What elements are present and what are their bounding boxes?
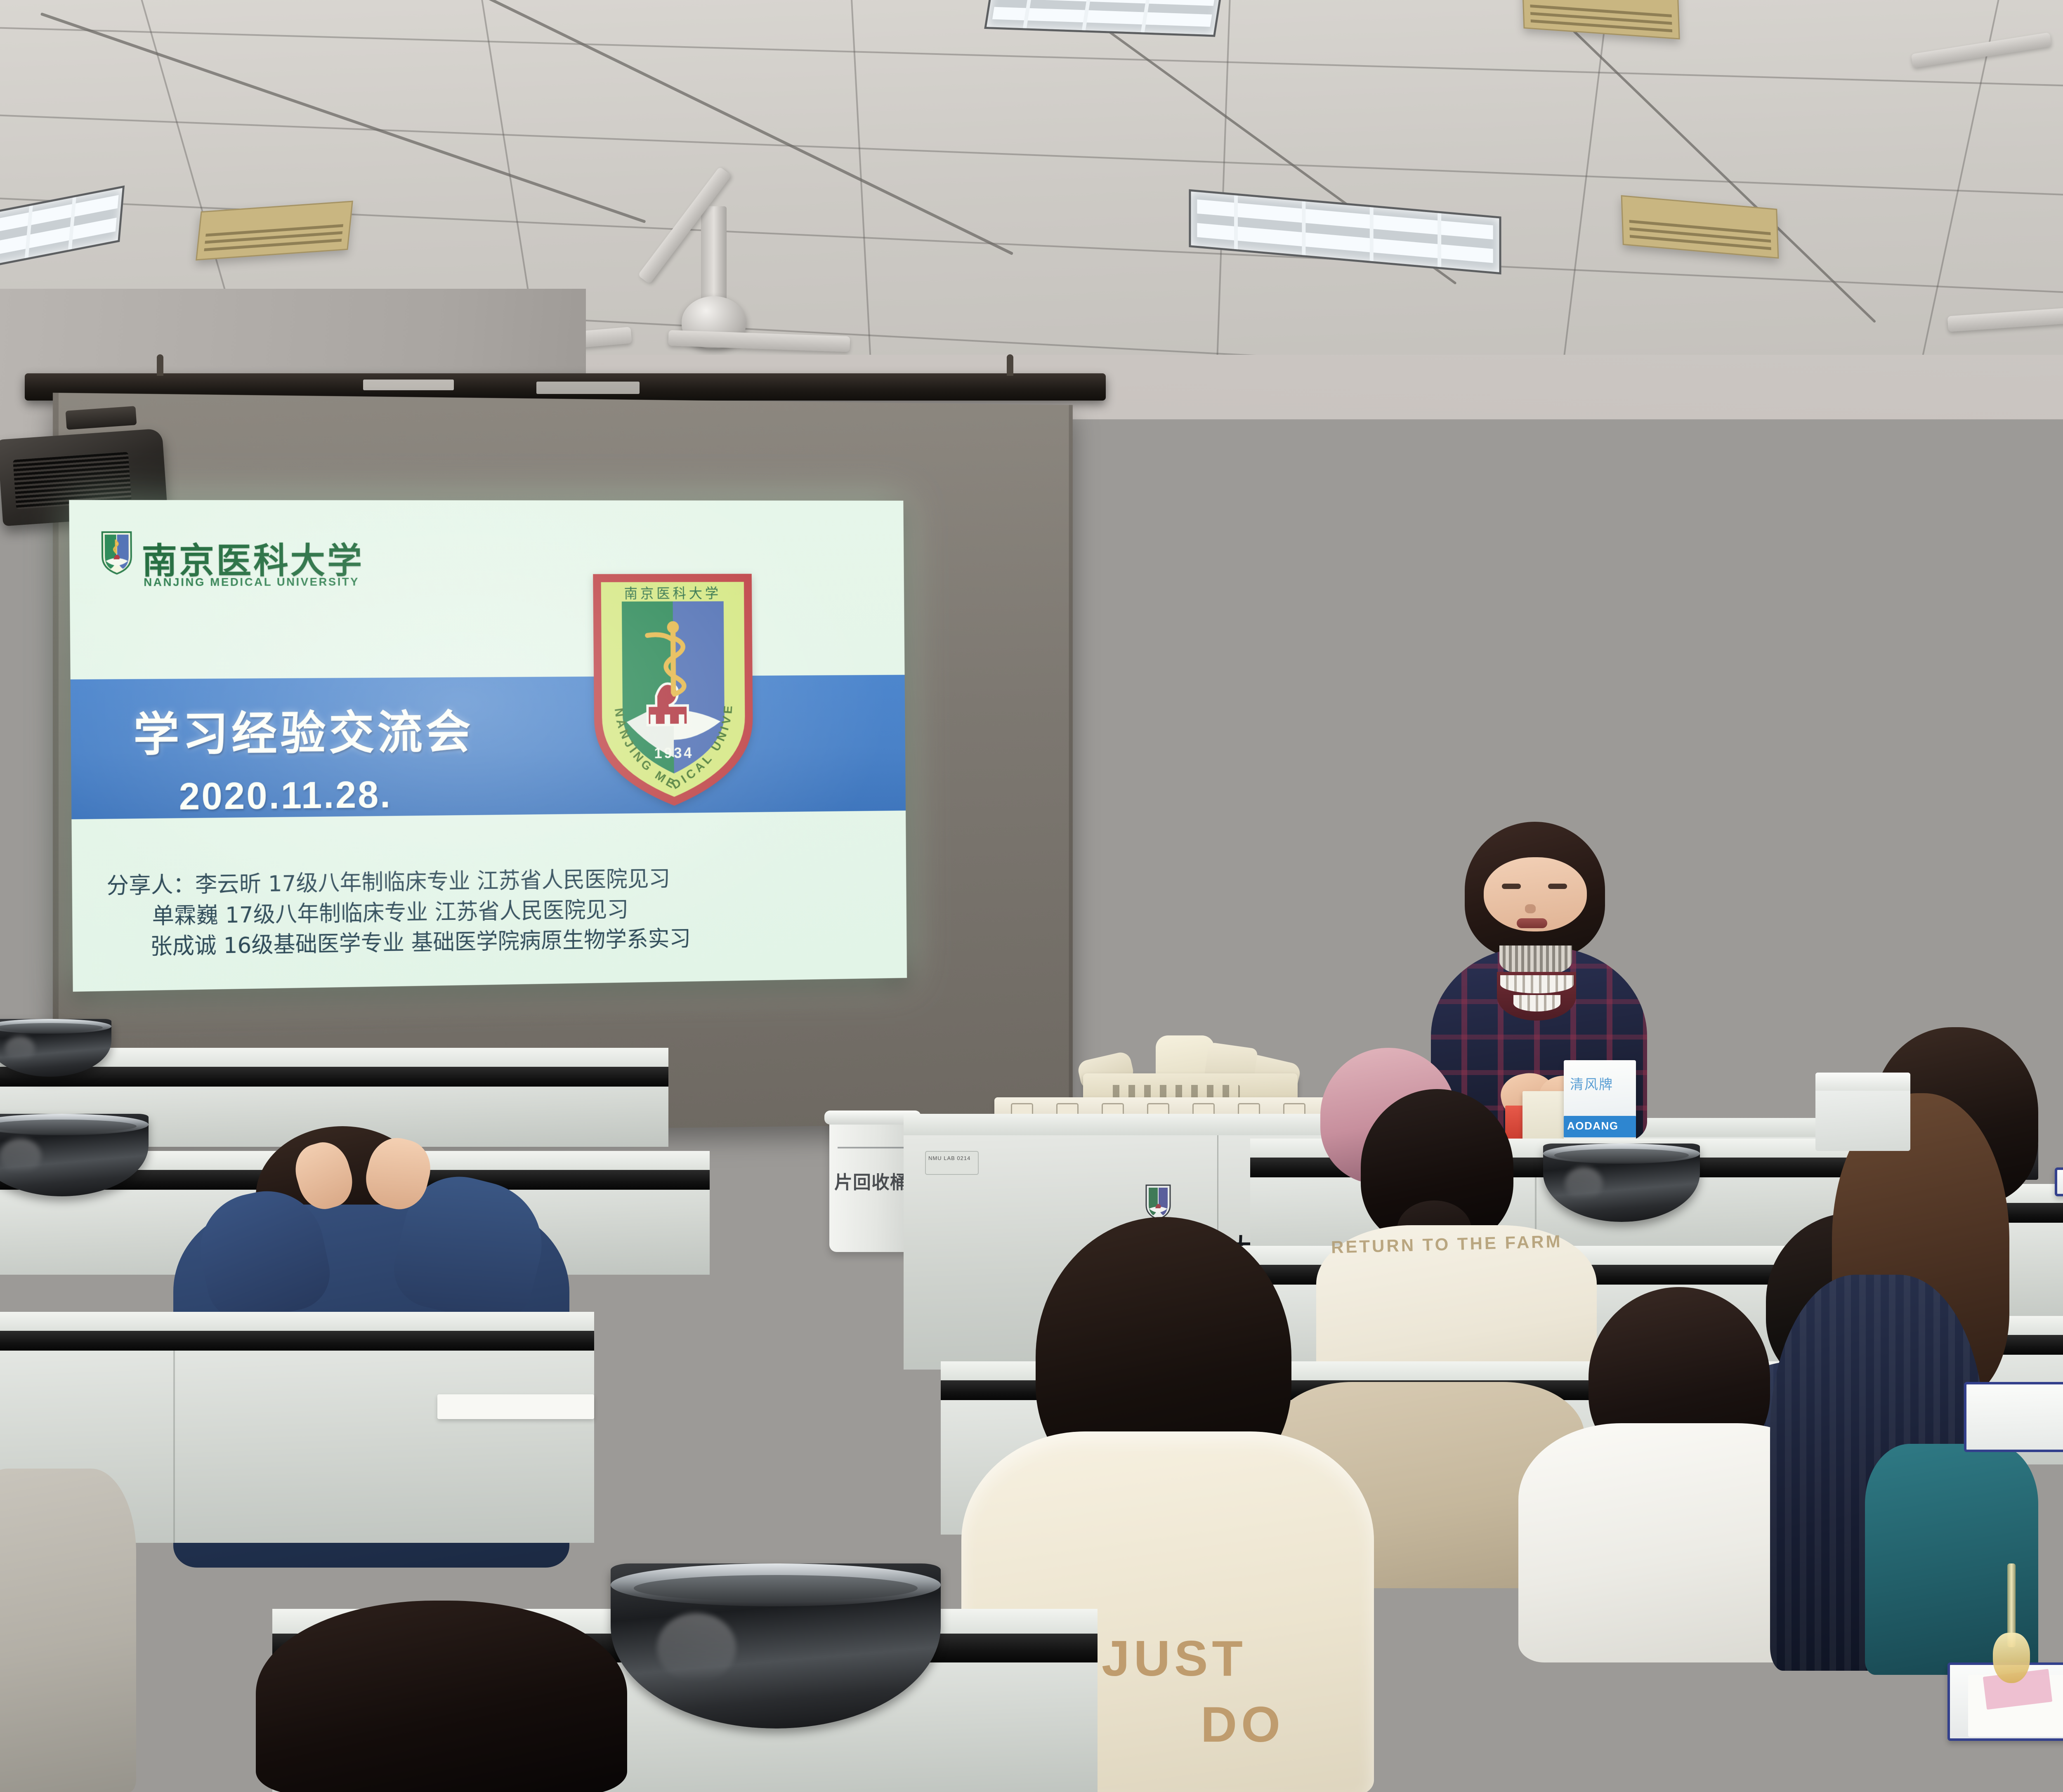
svg-text:1934: 1934 (654, 745, 694, 762)
slide-date: 2020.11.28. (179, 772, 542, 818)
slide-university-name-en: NANJING MEDICAL UNIVERSITY (144, 575, 452, 589)
ceiling-fan (586, 206, 842, 380)
student-grey-cardigan (0, 1469, 136, 1792)
nmu-logo-shield-icon (101, 531, 133, 575)
equipment-case-lid (1815, 1073, 1910, 1091)
hoodie-text-line1: JUST (1102, 1629, 1349, 1687)
student-front-right (1708, 1700, 1931, 1792)
hoodie-text-line2: DO (1201, 1695, 1448, 1753)
roller-label (363, 380, 454, 390)
svg-text:南京医科大学: 南京医科大学 (624, 585, 721, 602)
bin-label-rule (838, 1147, 908, 1148)
slide-presenter-list: 分享人：李云昕 17级八年制临床专业 江苏省人民医院见习 单霖巍 17级八年制临… (106, 861, 890, 963)
slide-university-name-cn: 南京医科大学 (142, 532, 450, 570)
bench-nmu-shield-icon (1145, 1184, 1171, 1220)
ceiling-fan (2009, 0, 2063, 116)
classroom-photo: 学习经验交流会 南京医科大学 NANJING MEDICAL UNIVERSIT… (0, 0, 2063, 1792)
slide-tray-mid (1964, 1382, 2063, 1452)
notebook (437, 1394, 594, 1419)
presenter-necklace-row2 (1513, 995, 1560, 1012)
student-front-left (256, 1601, 627, 1792)
roller-label (536, 382, 640, 394)
slide-title: 学习经验交流会 (133, 695, 618, 764)
presentation-slide: 南京医科大学 NANJING MEDICAL UNIVERSITY 南京医科大学… (69, 500, 907, 992)
bench-asset-sticker: NMU LAB 0214 (925, 1151, 979, 1175)
nmu-crest-icon: 南京医科大学 1934 NANJING MEDICAL UNIVERSITY (588, 568, 759, 811)
reagent-dropper-bottle-front (1993, 1563, 2030, 1683)
bench-asset-sticker-text: NMU LAB 0214 (926, 1152, 978, 1161)
presenter-collar (1499, 946, 1572, 976)
presenter-necklace (1500, 975, 1574, 993)
